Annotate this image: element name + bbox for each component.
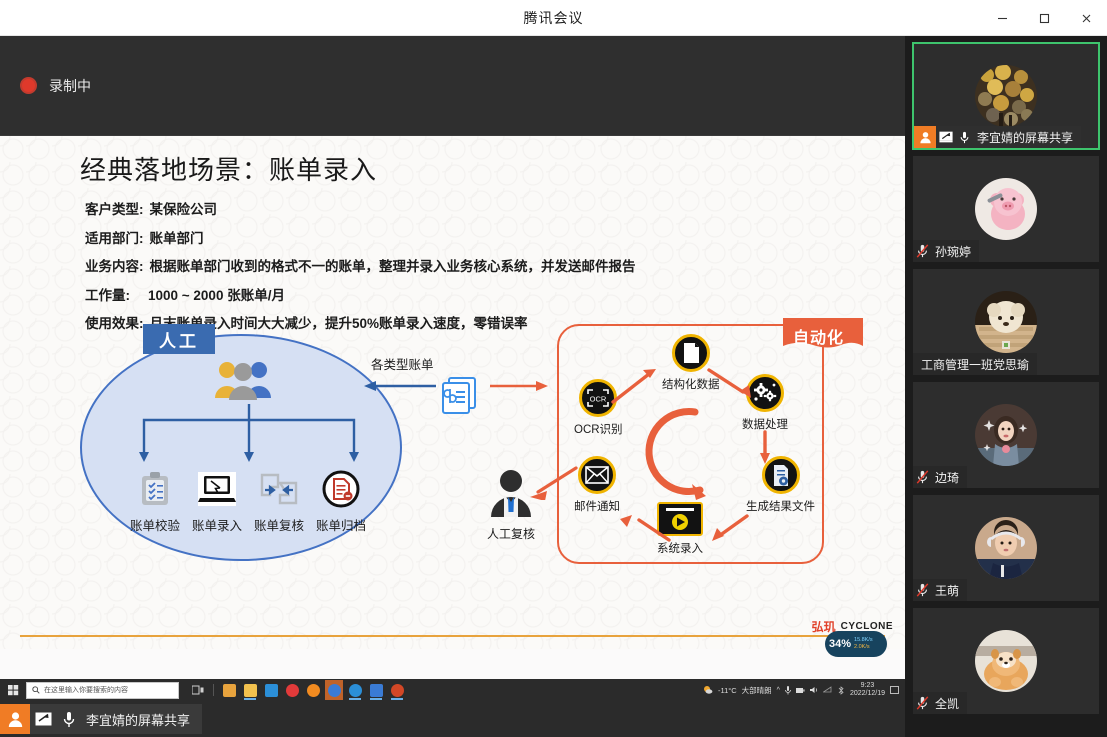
slide-divider-line bbox=[20, 635, 885, 637]
avatar bbox=[975, 65, 1037, 127]
avatar bbox=[975, 630, 1037, 692]
file-explorer-icon[interactable] bbox=[241, 680, 259, 700]
participant-badge: 边琦 bbox=[913, 466, 967, 488]
avatar bbox=[975, 178, 1037, 240]
participant-tile[interactable]: 孙琬婷 bbox=[912, 155, 1100, 263]
upload-speed: 15.8K/s bbox=[854, 637, 873, 643]
bills-left-arrow bbox=[362, 378, 436, 394]
presentation-slide: 经典落地场景：账单录入 客户类型:某保险公司 适用部门:账单部门 业务内容:根据… bbox=[0, 136, 905, 649]
wps-icon[interactable] bbox=[367, 680, 385, 700]
edge-icon[interactable] bbox=[346, 680, 364, 700]
microphone-muted-icon[interactable] bbox=[913, 470, 932, 484]
task-view-icon[interactable] bbox=[189, 680, 207, 700]
share-footer-bar: 李宜婧的屏幕共享 bbox=[0, 701, 905, 737]
automation-tag: 自动化 bbox=[783, 316, 863, 355]
participant-name: 王萌 bbox=[932, 582, 967, 599]
automation-node-label: OCR识别 bbox=[574, 421, 623, 437]
presenter-avatar bbox=[914, 126, 936, 148]
powerpoint-icon[interactable] bbox=[388, 680, 406, 700]
microphone-muted-icon[interactable] bbox=[913, 696, 932, 710]
battery-icon[interactable] bbox=[796, 687, 805, 694]
bullet-row: 适用部门:账单部门 bbox=[85, 227, 875, 247]
bills-right-arrow bbox=[490, 378, 550, 394]
microphone-muted-icon[interactable] bbox=[913, 244, 932, 258]
microphone-icon[interactable] bbox=[955, 131, 974, 144]
svg-text:OCR: OCR bbox=[590, 395, 607, 404]
manual-step: 账单归档 bbox=[314, 468, 368, 534]
invoice-icon bbox=[437, 374, 479, 416]
share-presenter-label: 李宜婧的屏幕共享 bbox=[82, 710, 202, 729]
volume-icon[interactable] bbox=[810, 686, 818, 694]
manual-step-label: 账单归档 bbox=[314, 515, 368, 534]
participant-name: 工商管理一班党思瑜 bbox=[913, 356, 1037, 373]
windows-taskbar: 在这里输入你要搜索的内容 bbox=[0, 679, 905, 701]
microphone-icon[interactable] bbox=[785, 686, 791, 695]
network-speed-widget[interactable]: 34% 15.8K/s 2.0K/s bbox=[825, 631, 887, 657]
bills-transfer-label: 各类型账单 bbox=[371, 354, 434, 373]
document-page-icon bbox=[672, 334, 710, 372]
presenter-avatar bbox=[0, 704, 30, 734]
microphone-icon[interactable] bbox=[56, 711, 82, 728]
manual-step-label: 账单复核 bbox=[252, 515, 306, 534]
screen-share-icon bbox=[936, 131, 955, 143]
automation-node: 邮件通知 bbox=[574, 456, 620, 514]
close-icon bbox=[1080, 12, 1093, 25]
automation-node-label: 系统录入 bbox=[657, 540, 703, 556]
recording-indicator-icon bbox=[20, 77, 37, 94]
minimize-icon bbox=[996, 12, 1009, 25]
manual-step-label: 账单录入 bbox=[190, 515, 244, 534]
firefox-icon[interactable] bbox=[304, 680, 322, 700]
maximize-button[interactable] bbox=[1023, 0, 1065, 36]
participant-name: 全凯 bbox=[932, 695, 967, 712]
automation-node: 生成结果文件 bbox=[746, 456, 815, 514]
taskbar-app-icons bbox=[189, 680, 406, 700]
weather-desc: 大部晴朗 bbox=[742, 685, 772, 696]
action-center-icon[interactable] bbox=[890, 686, 899, 694]
participant-badge: 工商管理一班党思瑜 bbox=[913, 353, 1037, 375]
file-gear-icon bbox=[762, 456, 800, 494]
participant-badge: 孙琬婷 bbox=[913, 240, 979, 262]
participant-badge: 李宜婧的屏幕共享 bbox=[914, 126, 1081, 148]
weather-icon bbox=[703, 685, 713, 695]
manual-tag: 人工 bbox=[143, 324, 215, 354]
slide-title: 经典落地场景：账单录入 bbox=[80, 150, 377, 187]
people-group-icon bbox=[213, 358, 275, 400]
search-app-icon[interactable] bbox=[325, 680, 343, 700]
bullet-row: 客户类型:某保险公司 bbox=[85, 198, 875, 218]
manual-step: 账单录入 bbox=[190, 468, 244, 534]
participant-badge: 全凯 bbox=[913, 692, 967, 714]
maximize-icon bbox=[1038, 12, 1051, 25]
automation-node-label: 数据处理 bbox=[742, 416, 788, 432]
system-tray: -11°C 大部晴朗 ^ 9:23 2022/12/19 bbox=[703, 682, 905, 699]
tencent-meeting-window: 腾讯会议 录制中 经典 bbox=[0, 0, 1107, 737]
taskbar-search-box[interactable]: 在这里输入你要搜索的内容 bbox=[26, 682, 179, 699]
avatar bbox=[975, 517, 1037, 579]
gears-icon bbox=[746, 374, 784, 412]
automation-node: 数据处理 bbox=[742, 374, 788, 432]
cpu-percent: 34% bbox=[829, 638, 851, 650]
automation-node: 结构化数据 bbox=[662, 334, 720, 392]
download-speed: 2.0K/s bbox=[854, 644, 870, 650]
manual-steps: 账单校验 bbox=[128, 468, 368, 534]
automation-node-label: 结构化数据 bbox=[662, 376, 720, 392]
ocr-icon: OCR bbox=[579, 379, 617, 417]
recording-bar: 录制中 bbox=[0, 36, 905, 136]
store-icon[interactable] bbox=[220, 680, 238, 700]
automation-node: 系统录入 bbox=[657, 502, 703, 556]
compare-arrows-icon bbox=[252, 468, 306, 510]
manual-review-node: 人工复核 bbox=[482, 468, 540, 542]
participant-name: 边琦 bbox=[932, 469, 967, 486]
participant-name: 孙琬婷 bbox=[932, 243, 979, 260]
participant-tile[interactable]: 工商管理一班党思瑜 bbox=[912, 268, 1100, 376]
bluetooth-icon[interactable] bbox=[837, 686, 845, 695]
taskbar-divider bbox=[213, 684, 214, 696]
automation-node-label: 邮件通知 bbox=[574, 498, 620, 514]
search-placeholder: 在这里输入你要搜索的内容 bbox=[44, 685, 128, 695]
sogou-icon[interactable] bbox=[283, 680, 301, 700]
mail-icon[interactable] bbox=[262, 680, 280, 700]
manual-step: 账单校验 bbox=[128, 468, 182, 534]
windows-logo-icon bbox=[8, 685, 19, 696]
process-diagram: 人工 bbox=[0, 316, 905, 626]
clock-time: 9:23 bbox=[861, 682, 875, 689]
clock-date: 2022/12/19 bbox=[850, 690, 885, 697]
manual-step: 账单复核 bbox=[252, 468, 306, 534]
participant-tile[interactable]: 全凯 bbox=[912, 607, 1100, 715]
envelope-icon bbox=[578, 456, 616, 494]
minimize-button[interactable] bbox=[981, 0, 1023, 36]
bullet-row: 工作量:1000 ~ 2000 张账单/月 bbox=[85, 284, 875, 304]
meeting-stage: 录制中 经典落地场景：账单录入 客户类型:某保险公司 适用部门:账单部门 bbox=[0, 36, 905, 701]
close-button[interactable] bbox=[1065, 0, 1107, 36]
start-button[interactable] bbox=[0, 685, 26, 696]
weather-temp: -11°C bbox=[718, 686, 737, 695]
recording-label: 录制中 bbox=[49, 76, 91, 96]
manual-branch-arrows bbox=[128, 404, 370, 474]
bullet-row: 业务内容:根据账单部门收到的格式不一的账单，整理并录入业务核心系统，并发送邮件报… bbox=[85, 255, 875, 275]
app-title: 腾讯会议 bbox=[524, 8, 584, 28]
automation-node-label: 生成结果文件 bbox=[746, 498, 815, 514]
clock[interactable]: 9:23 2022/12/19 bbox=[850, 682, 885, 699]
search-icon bbox=[32, 686, 40, 694]
share-status-chip[interactable]: 李宜婧的屏幕共享 bbox=[0, 704, 202, 734]
person-icon bbox=[7, 711, 24, 728]
shared-screen[interactable]: 经典落地场景：账单录入 客户类型:某保险公司 适用部门:账单部门 业务内容:根据… bbox=[0, 136, 905, 701]
play-screen-icon bbox=[657, 502, 703, 536]
microphone-muted-icon[interactable] bbox=[913, 583, 932, 597]
clipboard-check-icon bbox=[128, 468, 182, 510]
participant-name: 李宜婧的屏幕共享 bbox=[974, 129, 1081, 146]
manual-review-label: 人工复核 bbox=[482, 525, 540, 542]
document-archive-icon bbox=[314, 468, 368, 510]
title-bar: 腾讯会议 bbox=[0, 0, 1107, 36]
window-controls bbox=[981, 0, 1107, 36]
automation-node: OCR OCR识别 bbox=[574, 379, 623, 437]
avatar bbox=[975, 404, 1037, 466]
manual-step-label: 账单校验 bbox=[128, 515, 182, 534]
network-icon[interactable] bbox=[823, 686, 832, 694]
person-suit-icon bbox=[487, 468, 535, 518]
tray-chevron-up-icon[interactable]: ^ bbox=[777, 687, 780, 694]
participant-tile[interactable]: 李宜婧的屏幕共享 bbox=[912, 42, 1100, 150]
participant-badge: 王萌 bbox=[913, 579, 967, 601]
screen-share-icon bbox=[30, 712, 56, 726]
participant-tile[interactable]: 边琦 bbox=[912, 381, 1100, 489]
participant-rail[interactable]: 李宜婧的屏幕共享 bbox=[905, 36, 1107, 737]
participant-tile[interactable]: 王萌 bbox=[912, 494, 1100, 602]
person-icon bbox=[919, 131, 932, 144]
avatar bbox=[975, 291, 1037, 353]
laptop-icon bbox=[190, 468, 244, 510]
